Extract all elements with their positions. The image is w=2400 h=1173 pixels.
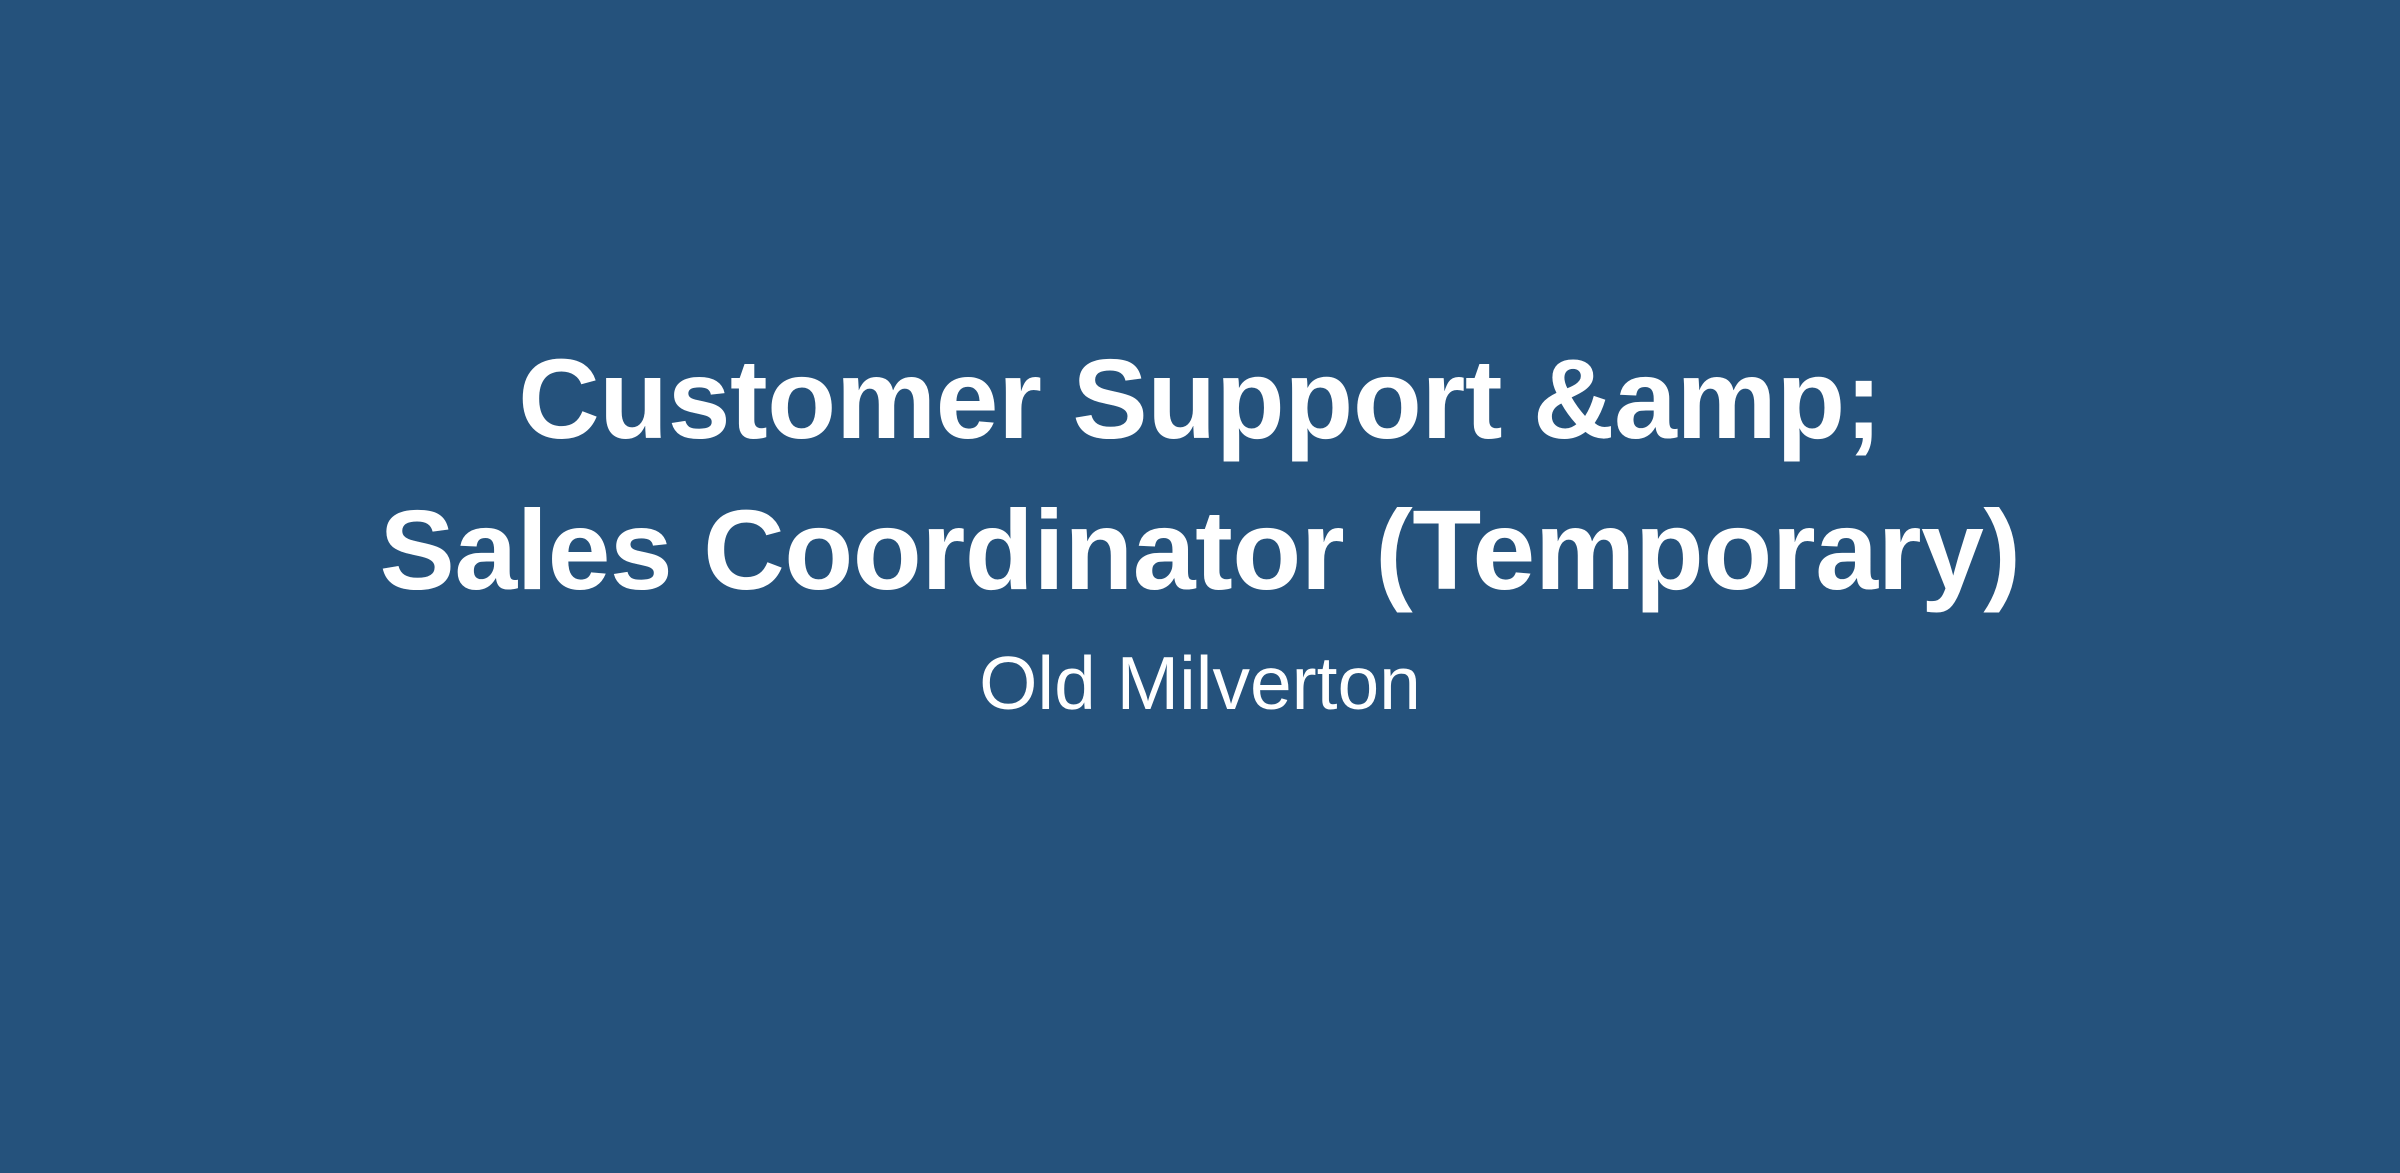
title-card-canvas: Customer Support &amp; Sales Coordinator… [0, 0, 2400, 1173]
hero-block: Customer Support &amp; Sales Coordinator… [0, 0, 2400, 1173]
page-title: Customer Support &amp; Sales Coordinator… [379, 324, 2020, 625]
page-subtitle-location: Old Milverton [979, 637, 1421, 731]
